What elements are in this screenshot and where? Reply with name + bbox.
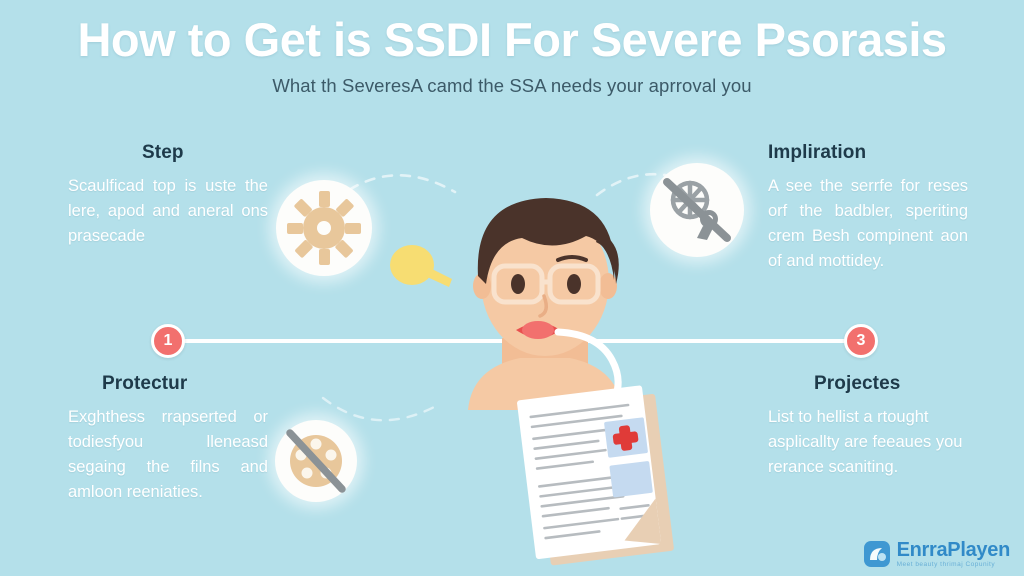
block-bottom-right-body: List to hellist a rtought asplicallty ar… xyxy=(768,405,968,480)
eye-left xyxy=(511,274,525,294)
block-top-left-body: Scaulficad top is uste the lere, apod an… xyxy=(68,174,268,249)
block-top-left: Step Scaulficad top is uste the lere, ap… xyxy=(68,142,268,249)
block-top-right-heading: Impliration xyxy=(768,142,968,164)
crossed-out-pacifier-icon-container xyxy=(650,163,744,257)
enrraplayen-logo-icon xyxy=(864,541,890,567)
ear-right xyxy=(599,273,617,299)
block-bottom-left: Protectur Exghthess rrapserted or todies… xyxy=(68,373,268,505)
timeline-marker-1-label: 1 xyxy=(164,332,173,350)
person-illustration xyxy=(430,180,660,410)
tongue xyxy=(522,321,554,339)
block-bottom-left-body: Exghthess rrapserted or todiesfyou llene… xyxy=(68,405,268,505)
crossed-out-pacifier-icon xyxy=(659,172,735,248)
watermark-tagline: Meet beauty thrimaj Copunity xyxy=(897,562,1010,569)
gear-icon xyxy=(287,191,361,265)
block-bottom-right-heading: Projectes xyxy=(814,373,968,395)
gear-icon-container xyxy=(276,180,372,276)
watermark-name: EnrraPlayen xyxy=(897,540,1010,560)
block-top-right: Impliration A see the serrfe for reses o… xyxy=(768,142,968,274)
timeline-marker-3-label: 3 xyxy=(857,332,866,350)
crossed-out-dotted-circle-icon xyxy=(283,428,349,494)
crossed-out-dotted-circle-icon-container xyxy=(275,420,357,502)
timeline-marker-1[interactable]: 1 xyxy=(151,324,185,358)
page-subtitle: What th SeveresA camd the SSA needs your… xyxy=(0,75,1024,97)
document-photo-box xyxy=(609,461,653,498)
eye-right xyxy=(567,274,581,294)
block-top-right-body: A see the serrfe for reses orf the badbl… xyxy=(768,174,968,274)
watermark[interactable]: EnrraPlayen Meet beauty thrimaj Copunity xyxy=(864,540,1010,569)
timeline-marker-3[interactable]: 3 xyxy=(844,324,878,358)
page-title: How to Get is SSDI For Severe Psorasis xyxy=(0,14,1024,67)
medical-document-illustration xyxy=(505,385,695,575)
block-bottom-left-heading: Protectur xyxy=(102,373,268,395)
infographic-canvas: How to Get is SSDI For Severe Psorasis W… xyxy=(0,0,1024,576)
block-top-left-heading: Step xyxy=(142,142,268,164)
block-bottom-right: Projectes List to hellist a rtought aspl… xyxy=(768,373,968,480)
